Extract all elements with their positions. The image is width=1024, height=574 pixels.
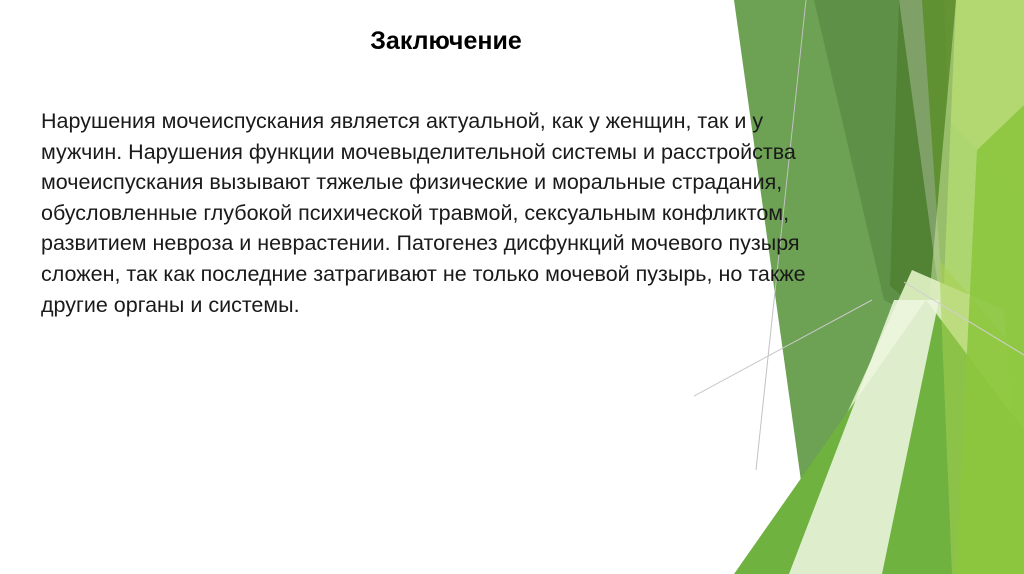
slide-body-text: Нарушения мочеиспускания является актуал… — [41, 106, 956, 320]
hairline-diagonal-lower — [694, 300, 872, 574]
page-title: Заключение — [0, 26, 892, 56]
slide-canvas: Заключение Нарушения мочеиспускания явля… — [0, 0, 1024, 574]
shape-lime-highlight-sliver — [944, 0, 1024, 200]
shape-front-lime-edge — [956, 105, 1024, 574]
shape-leaf-green-lower — [734, 300, 1024, 574]
shape-pale-overlay-slab — [789, 300, 939, 574]
